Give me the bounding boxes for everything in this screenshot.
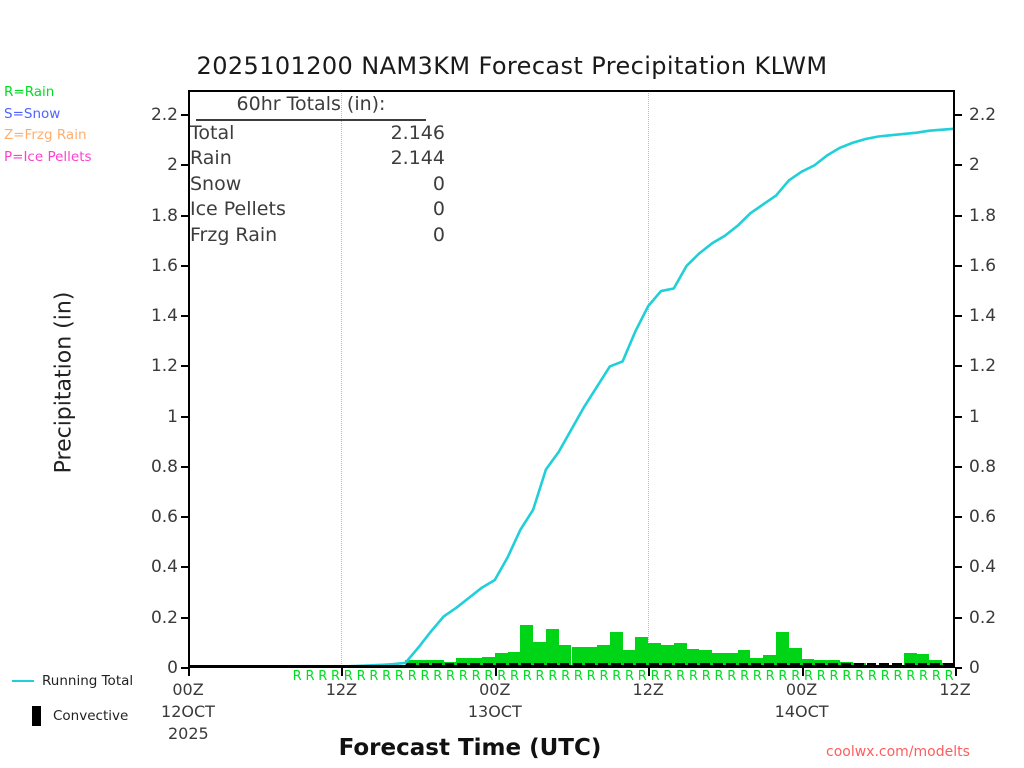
y-tick (181, 114, 188, 116)
y-tick (181, 516, 188, 518)
y-tick (955, 114, 962, 116)
y-tick (955, 566, 962, 568)
phase-marker-R: R (548, 670, 557, 683)
phase-marker-R: R (587, 670, 596, 683)
y-axis-tick-label: 2.2 (130, 105, 178, 125)
y-axis-tick-label: 0.6 (130, 507, 178, 527)
phase-marker-R: R (536, 670, 545, 683)
legend-running-total: Running Total (12, 673, 133, 689)
y-tick (181, 416, 188, 418)
phase-marker-R: R (740, 670, 749, 683)
y-tick (181, 315, 188, 317)
phase-marker-R: R (293, 670, 302, 683)
x-axis-date-label: 12OCT (143, 702, 233, 721)
y-axis-tick-label-right: 2.2 (969, 105, 1017, 125)
y-axis-tick-label-right: 0.2 (969, 608, 1017, 628)
x-axis-title: Forecast Time (UTC) (200, 735, 740, 761)
bar-swatch-icon (32, 706, 41, 726)
totals-row: Ice Pellets0 (190, 197, 445, 223)
totals-row-label: Snow (190, 172, 241, 198)
totals-row-value: 2.146 (391, 121, 445, 147)
y-tick (955, 617, 962, 619)
x-axis-tick-label: 00Z (762, 680, 842, 699)
chart-canvas: 2025101200 NAM3KM Forecast Precipitation… (0, 0, 1024, 768)
y-tick (955, 466, 962, 468)
y-axis-tick-label-right: 1.6 (969, 256, 1017, 276)
phase-marker-R: R (702, 670, 711, 683)
totals-row-value: 0 (433, 223, 445, 249)
legend-convective: Convective (12, 706, 128, 726)
y-tick (181, 365, 188, 367)
totals-row: Total2.146 (190, 121, 445, 147)
page-title: 2025101200 NAM3KM Forecast Precipitation… (0, 52, 1024, 80)
x-axis-tick-label: 00Z (148, 680, 228, 699)
y-axis-tick-label-right: 0.8 (969, 457, 1017, 477)
y-tick (955, 416, 962, 418)
phase-marker-R: R (881, 670, 890, 683)
phase-marker-R: R (715, 670, 724, 683)
totals-row-value: 2.144 (391, 146, 445, 172)
x-axis-tick-label: 12Z (915, 680, 995, 699)
x-axis-tick-label: 00Z (455, 680, 535, 699)
phase-marker-R: R (408, 670, 417, 683)
y-tick (181, 215, 188, 217)
totals-row-label: Rain (190, 146, 232, 172)
phase-marker-R: R (906, 670, 915, 683)
y-tick (955, 365, 962, 367)
totals-row-label: Ice Pellets (190, 197, 286, 223)
y-axis-tick-label: 1.2 (130, 356, 178, 376)
legend-running-total-label: Running Total (42, 673, 133, 689)
totals-row-label: Frzg Rain (190, 223, 277, 249)
phase-marker-R: R (893, 670, 902, 683)
totals-row: Snow0 (190, 172, 445, 198)
y-tick (181, 466, 188, 468)
y-tick (181, 667, 188, 669)
y-axis-tick-label-right: 1 (969, 407, 1017, 427)
totals-summary-box: 60hr Totals (in): Total2.146Rain2.144Sno… (190, 92, 490, 248)
phase-marker-R: R (382, 670, 391, 683)
phase-marker-R: R (842, 670, 851, 683)
y-axis-tick-label-right: 0.4 (969, 557, 1017, 577)
y-axis-tick-label: 1.4 (130, 306, 178, 326)
y-tick (181, 164, 188, 166)
phase-marker-R: R (420, 670, 429, 683)
y-tick (955, 164, 962, 166)
y-axis-tick-label-right: 1.2 (969, 356, 1017, 376)
y-axis-tick-label: 0.2 (130, 608, 178, 628)
x-axis-date-label: 13OCT (450, 702, 540, 721)
y-tick (181, 265, 188, 267)
phase-marker-R: R (433, 670, 442, 683)
legend-convective-label: Convective (53, 708, 128, 724)
y-axis-tick-label: 0.4 (130, 557, 178, 577)
x-axis-tick-label: 12Z (301, 680, 381, 699)
phase-marker-R: R (599, 670, 608, 683)
phase-marker-R: R (855, 670, 864, 683)
x-axis-year-label: 2025 (168, 724, 209, 743)
y-axis-tick-label-right: 1.4 (969, 306, 1017, 326)
y-axis-tick-label-right: 1.8 (969, 206, 1017, 226)
y-axis-tick-label: 0.8 (130, 457, 178, 477)
watermark: coolwx.com/modelts (826, 744, 970, 760)
y-axis-title: Precipitation (in) (52, 253, 77, 513)
phase-marker-R: R (753, 670, 762, 683)
y-axis-tick-label: 1.6 (130, 256, 178, 276)
totals-row: Frzg Rain0 (190, 223, 445, 249)
y-tick (955, 516, 962, 518)
phase-marker-R: R (574, 670, 583, 683)
totals-rows: Total2.146Rain2.144Snow0Ice Pellets0Frzg… (190, 121, 490, 249)
y-tick (955, 265, 962, 267)
phase-marker-R: R (727, 670, 736, 683)
y-tick (181, 566, 188, 568)
y-axis-tick-label: 1.8 (130, 206, 178, 226)
totals-row-value: 0 (433, 172, 445, 198)
phase-marker-R: R (561, 670, 570, 683)
y-axis-tick-label: 1 (130, 407, 178, 427)
line-swatch-icon (12, 680, 34, 682)
totals-row: Rain2.144 (190, 146, 445, 172)
y-tick (955, 215, 962, 217)
x-axis-date-label: 14OCT (757, 702, 847, 721)
totals-row-label: Total (190, 121, 234, 147)
phase-legend-item-2: Z=Frzg Rain (4, 125, 164, 147)
y-axis-tick-label-right: 0 (969, 658, 1017, 678)
x-axis-tick-label: 12Z (608, 680, 688, 699)
phase-legend-item-0: R=Rain (4, 82, 164, 104)
phase-marker-R: R (689, 670, 698, 683)
y-axis-tick-label-right: 2 (969, 155, 1017, 175)
y-tick (181, 617, 188, 619)
plot-area: 60hr Totals (in): Total2.146Rain2.144Sno… (188, 90, 955, 668)
y-axis-tick-label: 2 (130, 155, 178, 175)
phase-marker-R: R (868, 670, 877, 683)
y-axis-tick-label: 0 (130, 658, 178, 678)
x-tick (188, 668, 190, 676)
phase-marker-R: R (446, 670, 455, 683)
totals-header: 60hr Totals (in): (196, 92, 426, 121)
y-axis-tick-label-right: 0.6 (969, 507, 1017, 527)
totals-row-value: 0 (433, 197, 445, 223)
x-tick (955, 668, 957, 676)
y-tick (955, 315, 962, 317)
phase-marker-R: R (395, 670, 404, 683)
